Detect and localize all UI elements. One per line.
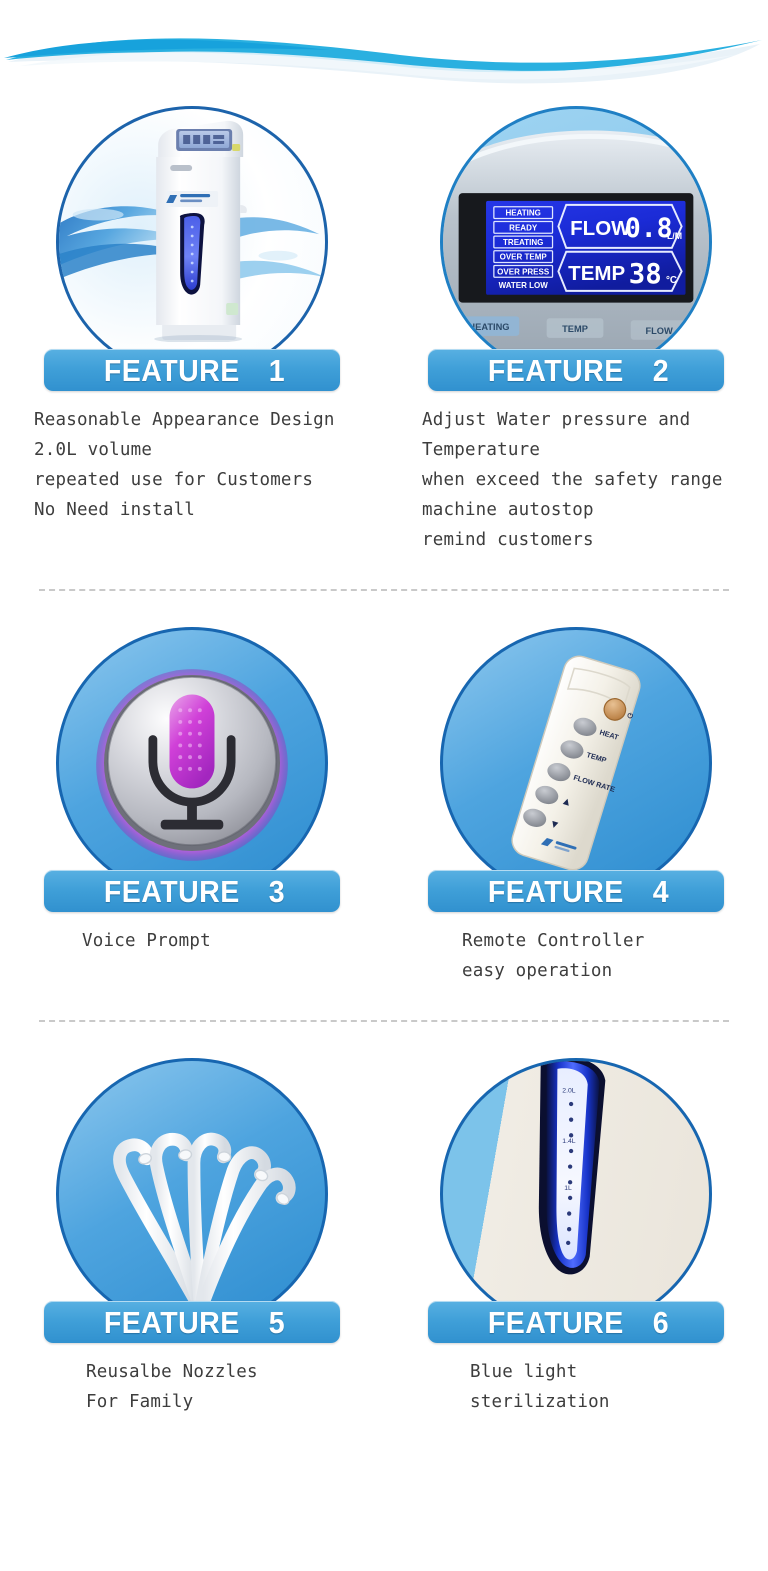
feature-card-4: ⏻ HEAT TEMP bbox=[384, 621, 768, 986]
svg-text:2.0L: 2.0L bbox=[562, 1087, 575, 1094]
remote-controller-photo: ⏻ HEAT TEMP bbox=[440, 627, 712, 899]
feature-2-image-area: HEATING READY TREATING OVER TEMP OVER PR… bbox=[426, 106, 726, 391]
badge-word-label: FEATURE bbox=[488, 355, 624, 386]
badge-number-label: 2 bbox=[653, 355, 669, 386]
lcd-status-over-temp: OVER TEMP bbox=[500, 253, 548, 262]
svg-text:1L: 1L bbox=[564, 1185, 572, 1192]
feature-row-2: FEATURE 3 Voice Prompt bbox=[0, 621, 768, 986]
caption-line: machine autostop bbox=[422, 495, 746, 525]
feature-3-caption: Voice Prompt bbox=[22, 926, 362, 956]
feature-3-image-area: FEATURE 3 bbox=[42, 627, 342, 912]
purifier-machine-illustration bbox=[144, 117, 248, 342]
lcd-control-panel-photo: HEATING READY TREATING OVER TEMP OVER PR… bbox=[440, 106, 712, 378]
svg-text:FLOW: FLOW bbox=[645, 326, 673, 336]
caption-line: repeated use for Customers bbox=[34, 465, 362, 495]
feature-card-3: FEATURE 3 Voice Prompt bbox=[0, 621, 384, 986]
uv-strip-illustration: 2.0L 1.4L 1L bbox=[443, 1061, 709, 1327]
lcd-temp-value: 38 bbox=[629, 259, 662, 290]
lcd-flow-label: FLOW bbox=[570, 217, 631, 240]
caption-line: Blue light bbox=[470, 1357, 746, 1387]
badge-number-label: 4 bbox=[653, 876, 669, 907]
lcd-status-treating: TREATING bbox=[503, 238, 543, 247]
feature-grid: FEATURE 1 Reasonable Appearance Design 2… bbox=[0, 100, 768, 1417]
caption-line: 2.0L volume bbox=[34, 435, 362, 465]
feature-6-caption: Blue light sterilization bbox=[406, 1357, 746, 1417]
feature-badge-1: FEATURE 1 bbox=[44, 349, 340, 391]
microphone-illustration bbox=[59, 630, 325, 896]
feature-4-image-area: ⏻ HEAT TEMP bbox=[426, 627, 726, 912]
header-wave-graphic bbox=[0, 0, 768, 100]
badge-word-label: FEATURE bbox=[488, 876, 624, 907]
caption-line: Remote Controller bbox=[462, 926, 746, 956]
feature-6-image-area: 2.0L 1.4L 1L FEATURE 6 bbox=[426, 1058, 726, 1343]
feature-2-caption: Adjust Water pressure and Temperature wh… bbox=[406, 405, 746, 555]
badge-word-label: FEATURE bbox=[104, 1307, 240, 1338]
lcd-panel-illustration: HEATING READY TREATING OVER TEMP OVER PR… bbox=[443, 109, 709, 375]
feature-1-caption: Reasonable Appearance Design 2.0L volume… bbox=[22, 405, 362, 525]
feature-card-6: 2.0L 1.4L 1L FEATURE 6 Blue light steril… bbox=[384, 1052, 768, 1417]
feature-badge-2: FEATURE 2 bbox=[428, 349, 724, 391]
lcd-status-over-press: OVER PRESS bbox=[497, 267, 550, 276]
feature-badge-3: FEATURE 3 bbox=[44, 870, 340, 912]
badge-word-label: FEATURE bbox=[488, 1307, 624, 1338]
feature-card-5: FEATURE 5 Reusalbe Nozzles For Family bbox=[0, 1052, 384, 1417]
lcd-flow-unit: L/M bbox=[667, 231, 682, 241]
feature-card-2: HEATING READY TREATING OVER TEMP OVER PR… bbox=[384, 100, 768, 555]
caption-line: Adjust Water pressure and bbox=[422, 405, 746, 435]
caption-line: Reasonable Appearance Design bbox=[34, 405, 362, 435]
badge-number-label: 6 bbox=[653, 1307, 669, 1338]
svg-text:HEATING: HEATING bbox=[468, 322, 509, 332]
reusable-nozzles-photo bbox=[56, 1058, 328, 1330]
feature-1-image-area: FEATURE 1 bbox=[42, 106, 342, 391]
microphone-voice-icon bbox=[56, 627, 328, 899]
badge-word-label: FEATURE bbox=[104, 355, 240, 386]
badge-number-label: 5 bbox=[269, 1307, 285, 1338]
feature-badge-5: FEATURE 5 bbox=[44, 1301, 340, 1343]
caption-line: No Need install bbox=[34, 495, 362, 525]
lcd-status-water-low: WATER LOW bbox=[499, 281, 549, 290]
remote-controller-illustration: ⏻ HEAT TEMP bbox=[443, 630, 709, 896]
lcd-status-ready: READY bbox=[509, 223, 538, 232]
feature-badge-6: FEATURE 6 bbox=[428, 1301, 724, 1343]
svg-text:TEMP: TEMP bbox=[562, 324, 588, 334]
caption-line: Reusalbe Nozzles bbox=[86, 1357, 362, 1387]
feature-row-1: FEATURE 1 Reasonable Appearance Design 2… bbox=[0, 100, 768, 555]
svg-text:1.4L: 1.4L bbox=[562, 1138, 575, 1145]
caption-line: Voice Prompt bbox=[82, 926, 362, 956]
feature-5-image-area: FEATURE 5 bbox=[42, 1058, 342, 1343]
caption-line: For Family bbox=[86, 1387, 362, 1417]
badge-word-label: FEATURE bbox=[104, 876, 240, 907]
lcd-temp-label: TEMP bbox=[568, 262, 625, 285]
feature-row-3: FEATURE 5 Reusalbe Nozzles For Family bbox=[0, 1052, 768, 1417]
caption-line: remind customers bbox=[422, 525, 746, 555]
nozzles-illustration bbox=[59, 1061, 325, 1327]
svg-text:⏻: ⏻ bbox=[626, 711, 634, 720]
caption-line: Temperature bbox=[422, 435, 746, 465]
feature-5-caption: Reusalbe Nozzles For Family bbox=[22, 1357, 362, 1417]
feature-4-caption: Remote Controller easy operation bbox=[406, 926, 746, 986]
blue-light-sterilization-photo: 2.0L 1.4L 1L bbox=[440, 1058, 712, 1330]
lcd-temp-unit: °C bbox=[666, 275, 677, 286]
water-purifier-machine-photo bbox=[56, 106, 328, 378]
caption-line: sterilization bbox=[470, 1387, 746, 1417]
caption-line: when exceed the safety range bbox=[422, 465, 746, 495]
lcd-flow-value: 0.8 bbox=[625, 213, 673, 244]
badge-number-label: 3 bbox=[269, 876, 285, 907]
feature-badge-4: FEATURE 4 bbox=[428, 870, 724, 912]
feature-card-1: FEATURE 1 Reasonable Appearance Design 2… bbox=[0, 100, 384, 555]
lcd-status-heating: HEATING bbox=[505, 209, 540, 218]
badge-number-label: 1 bbox=[269, 355, 285, 386]
caption-line: easy operation bbox=[462, 956, 746, 986]
